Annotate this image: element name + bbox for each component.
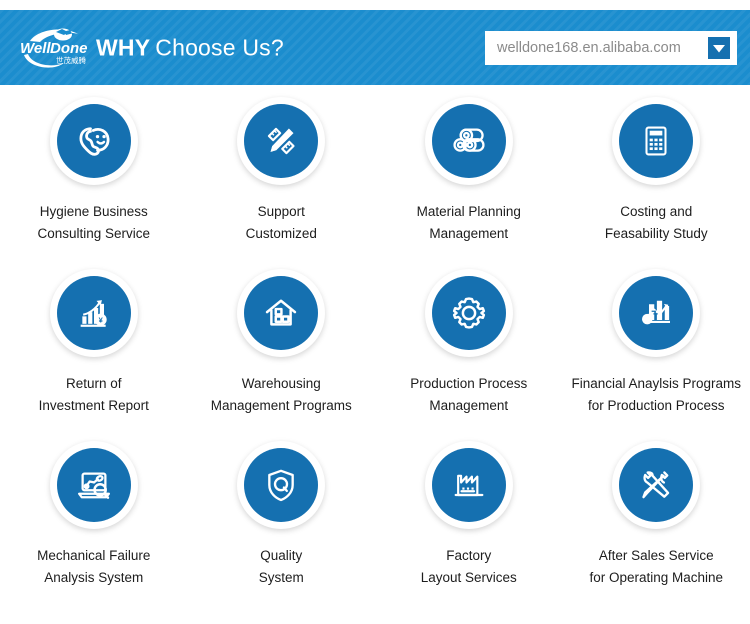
svg-text:Well: Well [20,40,51,57]
caption-line-1: Costing and [605,201,708,223]
laptop-inspection-icon [73,464,115,506]
phone-smiley-icon [73,120,115,162]
caption-line-2: Consulting Service [37,223,150,245]
pencil-rulers-icon [261,121,301,161]
service-item[interactable]: ¥ Return of Investment Report [0,265,188,437]
page-title: WHYChoose Us? [96,34,284,61]
service-icon-badge [50,441,138,529]
financial-analysis-icon [635,292,677,334]
service-icon-badge [612,97,700,185]
service-caption: Return of Investment Report [35,373,153,417]
caption-line-2: Management [417,223,521,245]
service-icon-badge [237,97,325,185]
svg-text:世茂威腾: 世茂威腾 [56,55,86,65]
service-icon-badge [50,97,138,185]
caption-line-1: Return of [39,373,149,395]
service-caption: Mechanical Failure Analysis System [33,545,154,589]
why-choose-us-banner: Well Done 世茂威腾 WHYChoose Us? welldone168… [0,0,750,624]
svg-text:Done: Done [50,40,88,57]
caption-line-2: for Operating Machine [589,567,723,589]
service-item[interactable]: Quality System [188,437,376,609]
caption-line-2: Investment Report [39,395,149,417]
service-caption: Factory Layout Services [417,545,521,589]
caption-line-2: Analysis System [37,567,150,589]
caption-line-2: Management Programs [211,395,352,417]
website-url-box[interactable]: welldone168.en.alibaba.com [485,31,737,65]
calculator-icon [637,122,675,160]
shield-q-icon [261,465,301,505]
service-item[interactable]: Support Customized [188,93,376,265]
caption-line-2: System [259,567,304,589]
service-icon-badge [425,441,513,529]
gear-icon [448,292,490,334]
headline-emphasis: WHY [96,34,150,60]
caption-line-1: Support [246,201,317,223]
caret-down-icon[interactable] [702,32,736,64]
service-icon-badge [237,441,325,529]
service-item[interactable]: Mechanical Failure Analysis System [0,437,188,609]
caption-line-2: Customized [246,223,317,245]
headline-rest: Choose Us? [155,34,284,60]
website-url-text: welldone168.en.alibaba.com [486,40,702,56]
service-item[interactable]: After Sales Service for Operating Machin… [563,437,750,609]
service-item[interactable]: Costing and Feasability Study [563,93,750,265]
service-icon-badge: ¥ [50,269,138,357]
caption-line-1: Financial Anaylsis Programs [571,373,741,395]
service-item[interactable]: Factory Layout Services [375,437,563,609]
stacked-pipes-icon [448,120,490,162]
service-icon-badge [612,441,700,529]
service-item[interactable]: Warehousing Management Programs [188,265,376,437]
service-caption: Financial Anaylsis Programs for Producti… [567,373,745,417]
warehouse-boxes-icon [260,292,302,334]
growth-chart-yen-icon: ¥ [74,293,114,333]
service-caption: Costing and Feasability Study [601,201,712,245]
caption-line-2: Layout Services [421,567,517,589]
service-icon-badge [425,97,513,185]
caption-line-1: Warehousing [211,373,352,395]
welldone-logo: Well Done 世茂威腾 [18,22,96,72]
caption-line-1: Mechanical Failure [37,545,150,567]
service-caption: Warehousing Management Programs [207,373,356,417]
caption-line-1: Hygiene Business [37,201,150,223]
service-item[interactable]: Material Planning Management [375,93,563,265]
caption-line-2: Feasability Study [605,223,708,245]
service-icon-badge [425,269,513,357]
service-caption: Hygiene Business Consulting Service [33,201,154,245]
caption-line-1: Factory [421,545,517,567]
wrench-screwdriver-icon [636,465,676,505]
service-icon-badge [237,269,325,357]
service-caption: Support Customized [242,201,321,245]
service-item[interactable]: Hygiene Business Consulting Service [0,93,188,265]
service-item[interactable]: Production Process Management [375,265,563,437]
service-caption: Material Planning Management [413,201,525,245]
service-caption: After Sales Service for Operating Machin… [585,545,727,589]
caption-line-1: After Sales Service [589,545,723,567]
service-item[interactable]: Financial Anaylsis Programs for Producti… [563,265,750,437]
factory-icon [449,465,489,505]
banner-header: Well Done 世茂威腾 WHYChoose Us? welldone168… [0,10,750,85]
caption-line-1: Material Planning [417,201,521,223]
service-icon-badge [612,269,700,357]
caption-line-2: Management [410,395,527,417]
caption-line-1: Production Process [410,373,527,395]
caption-line-1: Quality [259,545,304,567]
caption-line-2: for Production Process [571,395,741,417]
service-caption: Production Process Management [406,373,531,417]
services-grid: Hygiene Business Consulting Service [0,93,750,609]
service-caption: Quality System [255,545,308,589]
